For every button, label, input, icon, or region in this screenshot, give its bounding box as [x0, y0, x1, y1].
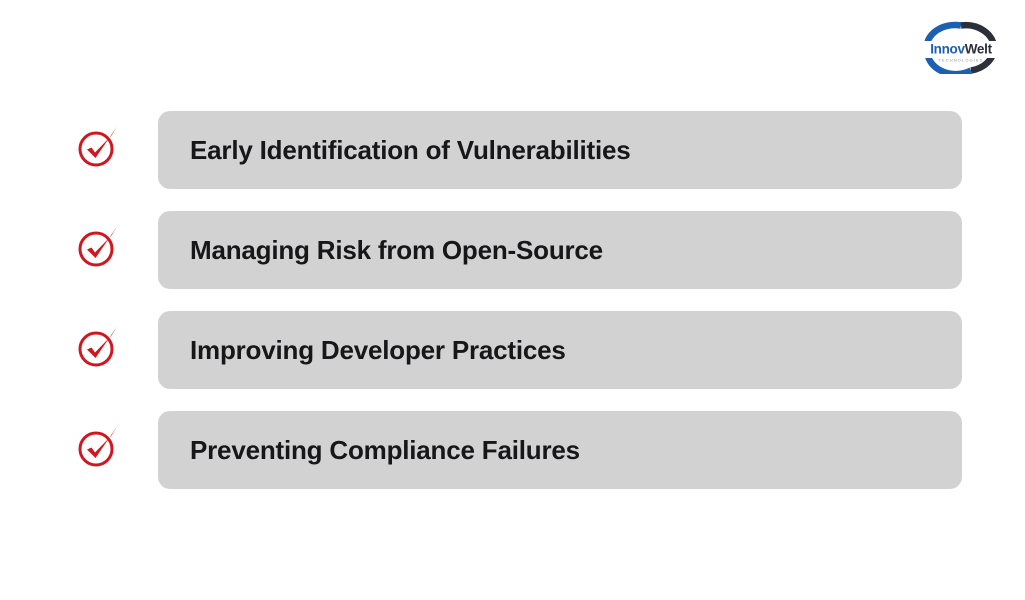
list-item: Improving Developer Practices [0, 311, 1025, 389]
benefit-label: Early Identification of Vulnerabilities [158, 136, 631, 165]
logo-tagline: TECHNOLOGIES [939, 58, 984, 63]
benefit-bar[interactable]: Managing Risk from Open-Source [158, 211, 962, 289]
check-circle-icon [76, 423, 120, 469]
benefit-label: Improving Developer Practices [158, 336, 566, 365]
benefit-label: Preventing Compliance Failures [158, 436, 580, 465]
check-circle-icon [76, 123, 120, 169]
logo-word-innov: Innov [930, 42, 965, 57]
benefit-bar[interactable]: Early Identification of Vulnerabilities [158, 111, 962, 189]
svg-text:InnovWelt: InnovWelt [930, 42, 992, 57]
benefits-list: Early Identification of Vulnerabilities … [0, 111, 1025, 489]
benefit-bar[interactable]: Improving Developer Practices [158, 311, 962, 389]
list-item: Managing Risk from Open-Source [0, 211, 1025, 289]
list-item: Early Identification of Vulnerabilities [0, 111, 1025, 189]
slide-canvas: InnovWelt TECHNOLOGIES Early Identificat… [0, 0, 1025, 600]
check-circle-icon [76, 223, 120, 269]
check-circle-icon [76, 323, 120, 369]
list-item: Preventing Compliance Failures [0, 411, 1025, 489]
benefit-label: Managing Risk from Open-Source [158, 236, 603, 265]
brand-logo: InnovWelt TECHNOLOGIES [915, 14, 1007, 74]
benefit-bar[interactable]: Preventing Compliance Failures [158, 411, 962, 489]
logo-word-welt: Welt [965, 42, 993, 57]
